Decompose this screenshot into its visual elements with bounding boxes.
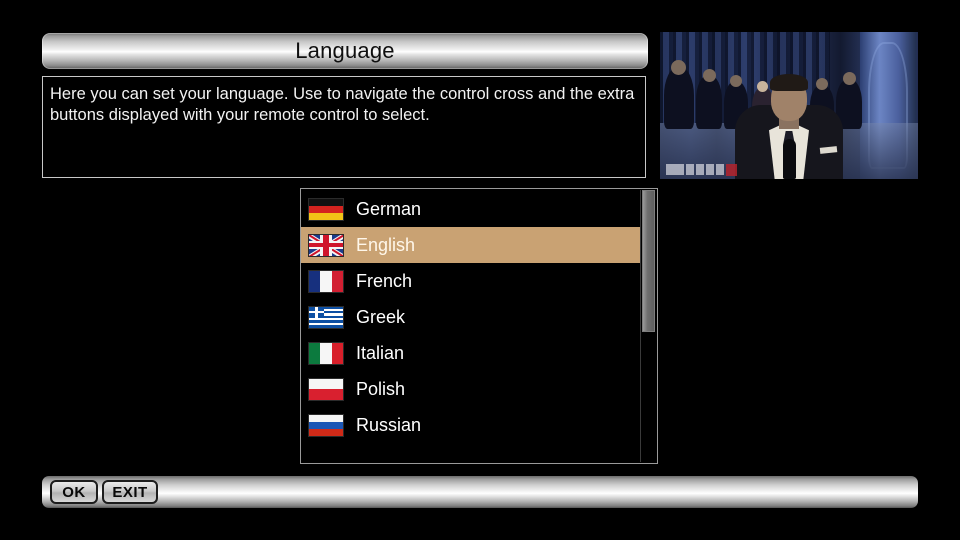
microphone-icon [783,139,796,179]
video-crowd-head [843,72,856,85]
page-title: Language [42,40,648,62]
list-item-label: English [356,236,415,254]
channel-logo-accent [726,164,737,176]
list-item-greek[interactable]: Greek [301,299,641,335]
description-panel: Here you can set your language. Use to n… [42,76,646,178]
list-item-english[interactable]: English [301,227,641,263]
video-preview[interactable] [660,32,918,179]
video-crowd-head [730,75,742,87]
ok-button[interactable]: OK [50,480,98,504]
language-list-rows: German English French [301,191,641,443]
flag-russia-icon [308,414,344,437]
list-item-german[interactable]: German [301,191,641,227]
flag-germany-icon [308,198,344,221]
video-crowd-figure [696,75,722,129]
softkey-bar: OK EXIT [42,476,918,508]
list-item-italian[interactable]: Italian [301,335,641,371]
exit-button[interactable]: EXIT [102,480,158,504]
title-bar: Language [42,33,648,69]
flag-poland-icon [308,378,344,401]
list-item-polish[interactable]: Polish [301,371,641,407]
video-crowd-head [816,78,828,90]
flag-italy-icon [308,342,344,365]
reporter-hair [770,74,808,91]
list-item-label: German [356,200,421,218]
list-scrollbar-thumb[interactable] [642,190,655,332]
channel-logo-watermark [666,163,737,176]
list-item-russian[interactable]: Russian [301,407,641,443]
list-item-label: Russian [356,416,421,434]
video-crowd-figure [664,67,694,129]
list-item-label: Italian [356,344,404,362]
list-item-label: French [356,272,412,290]
list-item-label: Polish [356,380,405,398]
list-item-label: Greek [356,308,405,326]
video-crowd-head [671,60,686,75]
list-scrollbar-track[interactable] [640,190,656,462]
list-item-french[interactable]: French [301,263,641,299]
flag-greece-icon [308,306,344,329]
video-crowd-head [757,81,768,92]
flag-france-icon [308,270,344,293]
flag-united-kingdom-icon [308,234,344,257]
video-crowd-head [703,69,716,82]
language-list[interactable]: German English French [300,188,658,464]
description-text: Here you can set your language. Use to n… [50,84,638,126]
